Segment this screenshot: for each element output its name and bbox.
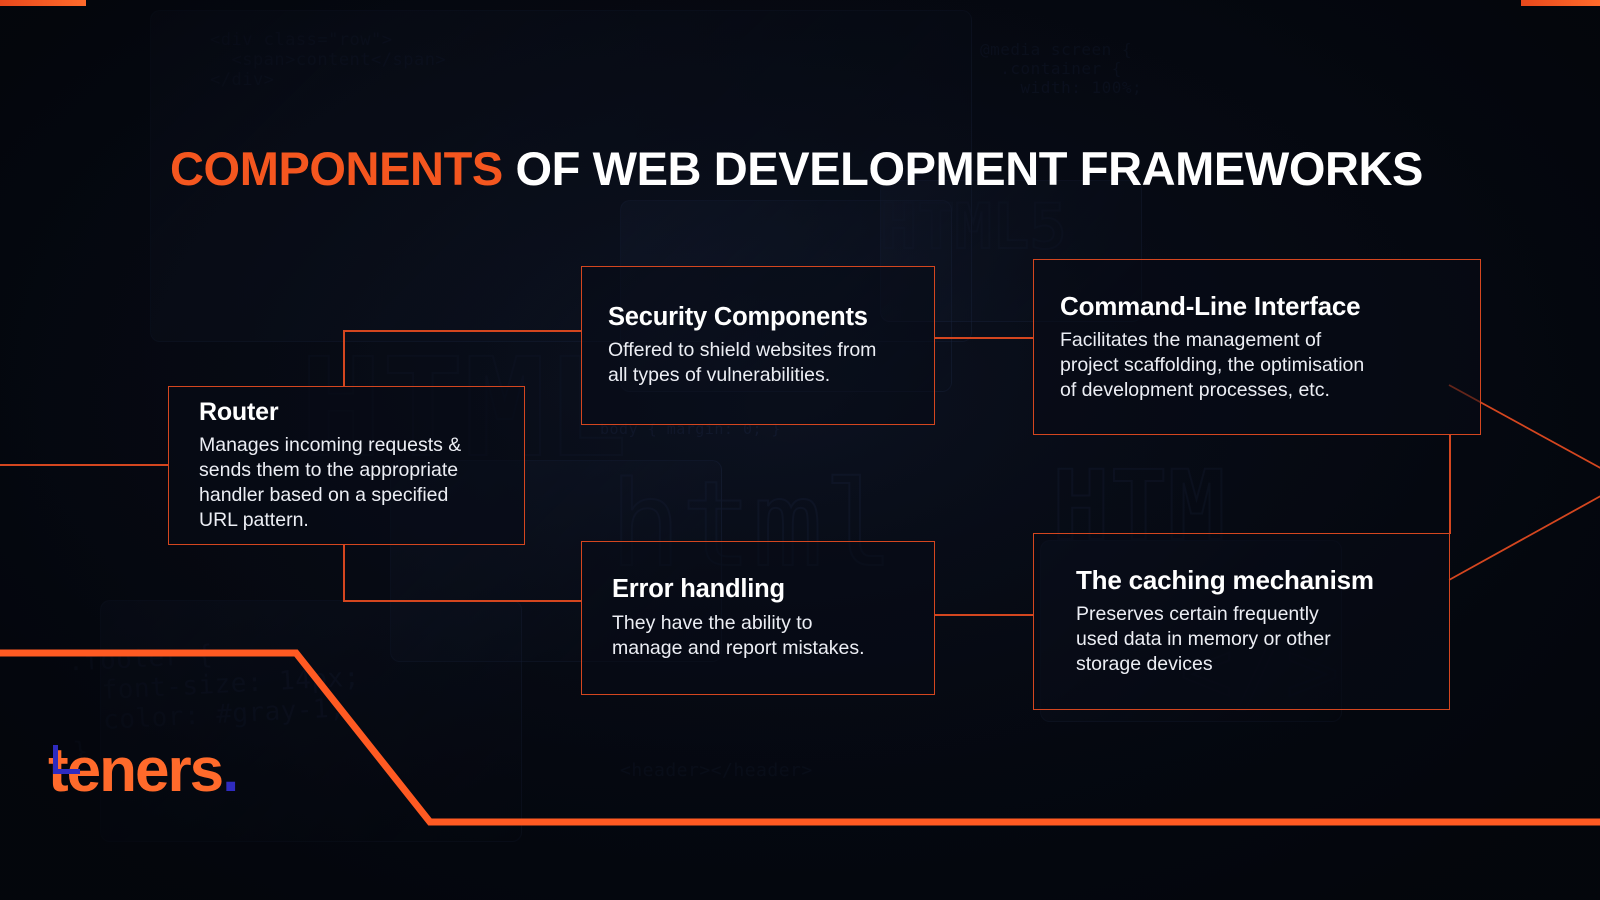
card-cli-title: Command-Line Interface xyxy=(1060,292,1466,321)
card-security-body: Offered to shield websites from all type… xyxy=(608,338,934,388)
card-router[interactable]: Router Manages incoming requests & sends… xyxy=(168,386,525,545)
slide-canvas: html HTM HTML HTML5 </> .footer { font-s… xyxy=(0,0,1600,900)
connector-security-to-cli xyxy=(934,337,1034,339)
card-caching-mechanism-title: The caching mechanism xyxy=(1076,566,1435,595)
card-security-title: Security Components xyxy=(608,303,934,332)
card-router-title: Router xyxy=(199,398,524,426)
logo[interactable]: teners. xyxy=(48,735,308,807)
connector-left-feed xyxy=(0,464,169,466)
card-error-handling-title: Error handling xyxy=(612,575,934,604)
card-router-body: Manages incoming requests & sends them t… xyxy=(199,433,524,533)
accent-bar-top-left xyxy=(0,0,86,6)
card-security[interactable]: Security Components Offered to shield we… xyxy=(581,266,935,425)
connector-router-down xyxy=(343,544,345,601)
card-error-handling[interactable]: Error handling They have the ability to … xyxy=(581,541,935,695)
card-caching-mechanism-body: Preserves certain frequently used data i… xyxy=(1076,602,1435,677)
card-error-handling-body: They have the ability to manage and repo… xyxy=(612,611,934,661)
page-title: COMPONENTS OF WEB DEVELOPMENT FRAMEWORKS xyxy=(170,143,1423,195)
connector-error-to-cache xyxy=(934,614,1034,616)
connector-router-to-security xyxy=(343,330,582,332)
connector-right-spine xyxy=(1449,434,1451,534)
background-code-5: <header></header> xyxy=(620,760,813,781)
logo-bracket-icon xyxy=(53,745,80,774)
title-highlight: COMPONENTS xyxy=(170,142,503,195)
connector-router-up xyxy=(343,330,345,387)
logo-dot: . xyxy=(222,736,237,805)
card-caching-mechanism[interactable]: The caching mechanism Preserves certain … xyxy=(1033,533,1450,710)
background-code-4: @media screen { .container { width: 100%… xyxy=(980,40,1142,97)
card-cli-body: Facilitates the management of project sc… xyxy=(1060,328,1466,403)
background-code-2: <div class="row"> <span>content</span> <… xyxy=(210,30,446,90)
card-cli[interactable]: Command-Line Interface Facilitates the m… xyxy=(1033,259,1481,435)
background-word-html5: HTML5 xyxy=(880,190,1067,263)
title-rest: OF WEB DEVELOPMENT FRAMEWORKS xyxy=(503,142,1423,195)
accent-bar-top-right xyxy=(1521,0,1600,6)
connector-router-to-error xyxy=(343,600,582,602)
